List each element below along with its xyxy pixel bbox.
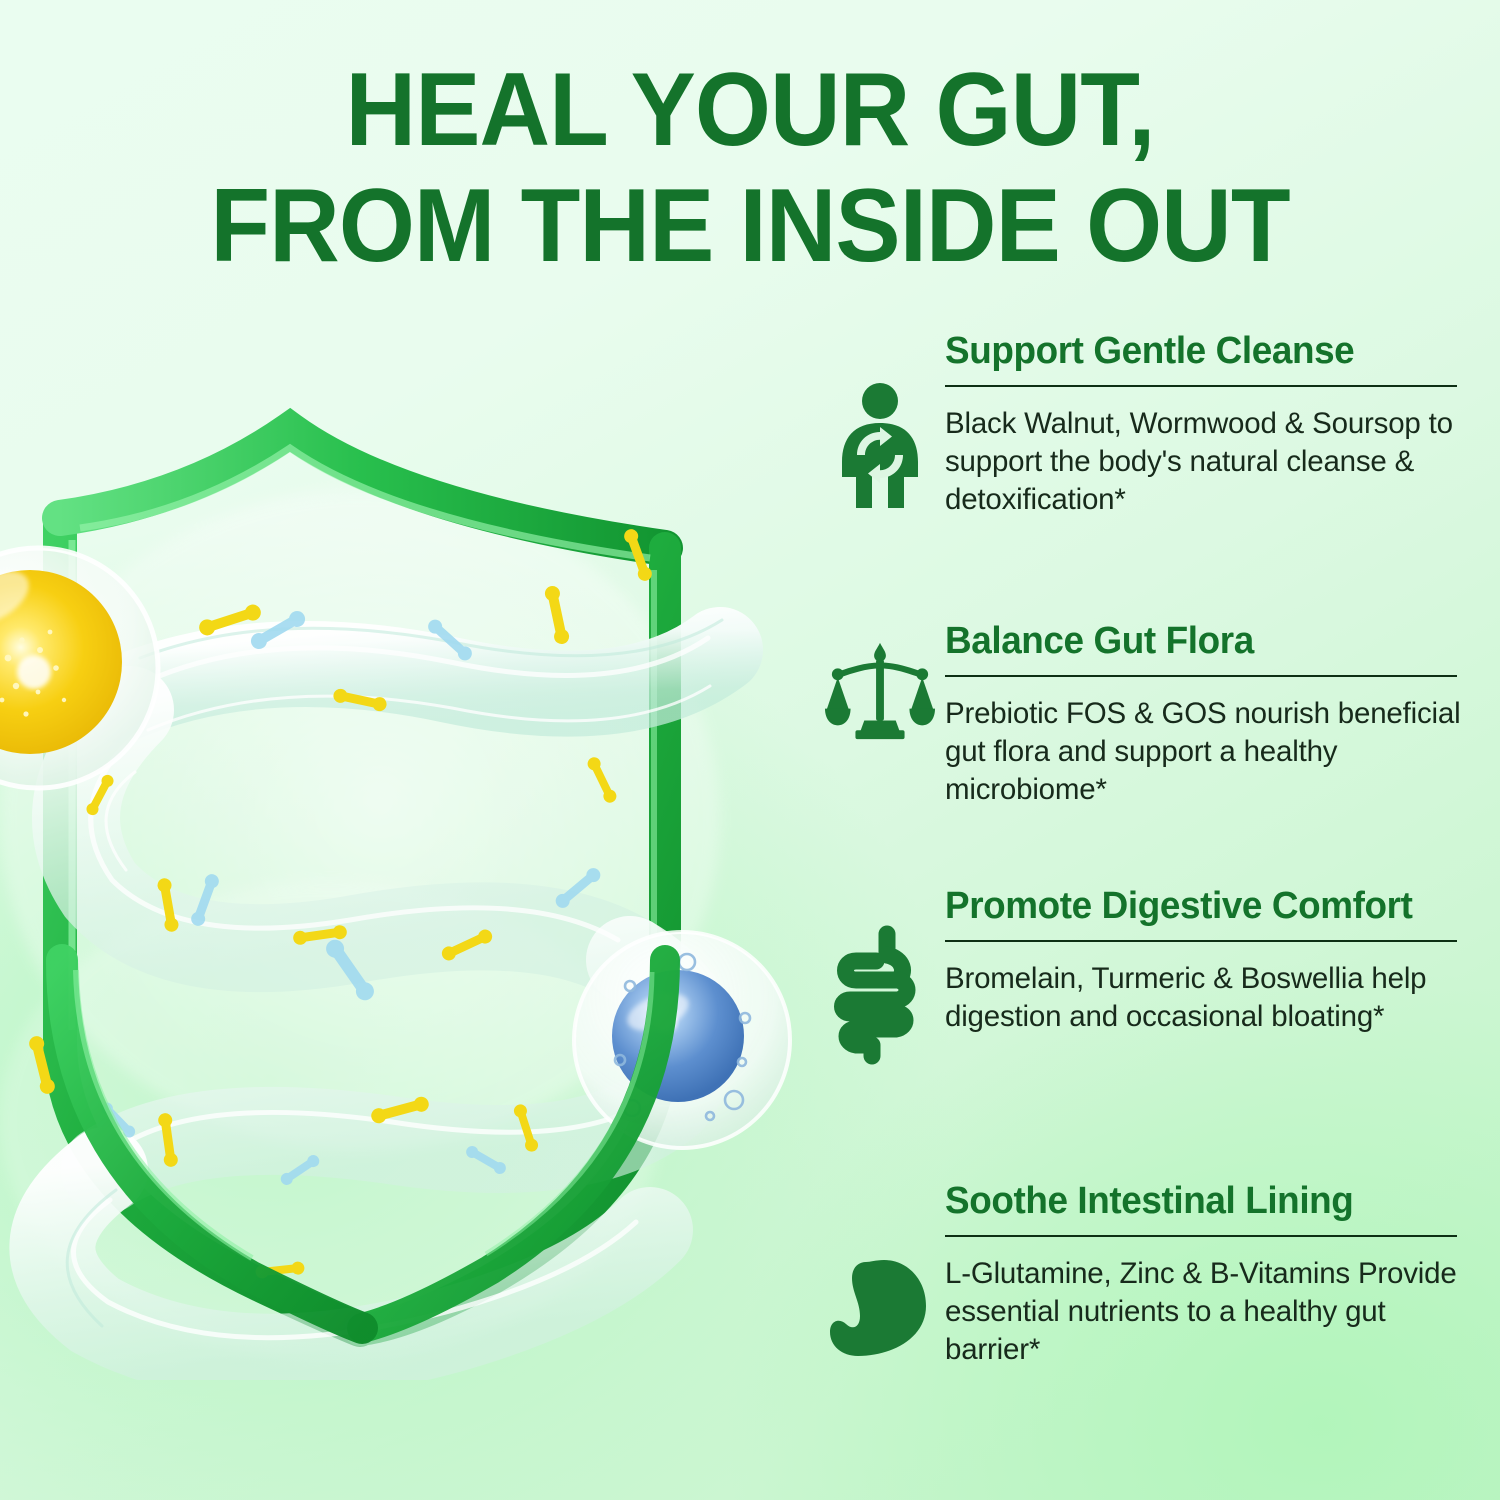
intestine-icon (825, 925, 935, 1065)
feature-title: Promote Digestive Comfort (945, 885, 1464, 928)
feature-divider (945, 940, 1457, 942)
feature-divider (945, 675, 1457, 677)
feature-body: L-Glutamine, Zinc & B-Vitamins Provide e… (945, 1255, 1480, 1370)
feature-body: Bromelain, Turmeric & Boswellia help dig… (945, 960, 1480, 1037)
blue-nutrient-capsule (574, 932, 790, 1148)
feature-body: Prebiotic FOS & GOS nourish beneficial g… (945, 695, 1480, 810)
feature-list: Support Gentle Cleanse Black Walnut, Wor… (800, 330, 1480, 1460)
feature-title: Soothe Intestinal Lining (945, 1180, 1464, 1223)
person-cleanse-icon (825, 382, 935, 510)
balance-scales-icon (825, 640, 935, 740)
feature-body: Black Walnut, Wormwood & Soursop to supp… (945, 405, 1480, 520)
gut-shield-illustration (0, 400, 860, 1380)
feature-title: Balance Gut Flora (945, 620, 1464, 663)
feature-item-support-gentle-cleanse: Support Gentle Cleanse Black Walnut, Wor… (800, 330, 1480, 620)
feature-item-soothe-intestinal-lining: Soothe Intestinal Lining L-Glutamine, Zi… (800, 1180, 1480, 1460)
headline-line-2: FROM THE INSIDE OUT (101, 174, 1398, 278)
feature-item-promote-digestive-comfort: Promote Digestive Comfort Bromelain, Tur… (800, 885, 1480, 1180)
feature-item-balance-gut-flora: Balance Gut Flora Prebiotic FOS & GOS no… (800, 620, 1480, 885)
stomach-icon (825, 1258, 935, 1374)
feature-divider (945, 1235, 1457, 1237)
infographic-poster: HEAL YOUR GUT, FROM THE INSIDE OUT (0, 0, 1500, 1500)
page-title: HEAL YOUR GUT, FROM THE INSIDE OUT (45, 58, 1455, 278)
feature-divider (945, 385, 1457, 387)
headline-line-1: HEAL YOUR GUT, (346, 52, 1155, 168)
feature-title: Support Gentle Cleanse (945, 330, 1464, 373)
